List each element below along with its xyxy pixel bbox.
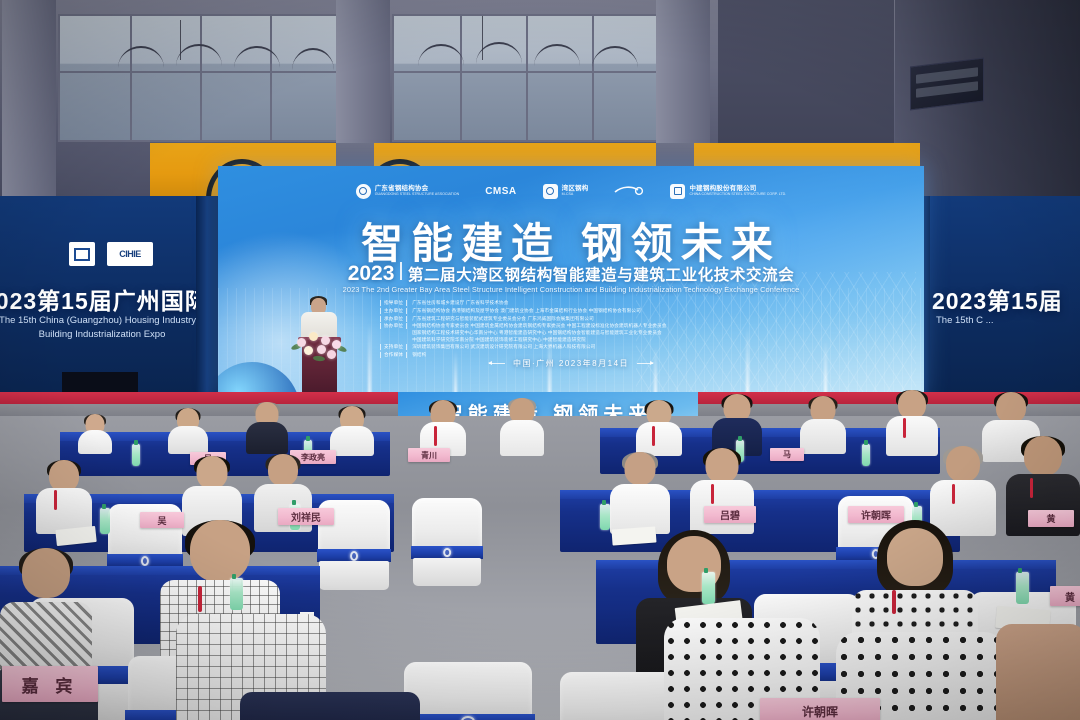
cscec-logo-mark (670, 184, 685, 199)
left-banner-logos: CIHIE (0, 242, 222, 266)
right-expo-banner: 2023第15届 The 15th C ... (922, 196, 1080, 396)
hall-window-bay-left (58, 14, 340, 142)
mcsa-logo: 湾区钢构 M-CSA (543, 184, 589, 199)
hall-column (2, 0, 56, 200)
date-wing-left-icon (489, 363, 505, 364)
attendee (240, 692, 420, 720)
gdsteel-logo: 广东省钢结构协会 GUANGDONG STEEL STRUCTURE ASSOC… (356, 184, 459, 199)
cihie-logo-text: CIHIE (119, 249, 141, 259)
audience-floor: 吴 李政亮 青川 马 (0, 416, 1080, 720)
organizer-credits: 指导单位 广东省住房和城乡建设厅 广东省科学技术协会 主办单位 广东省钢结构协会… (380, 300, 832, 360)
conference-date-location: 中国·广州 2023年8月14日 (513, 358, 629, 369)
placard-ma: 马 (770, 448, 804, 461)
conference-subtitle-cn: 第二届大湾区钢结构智能建造与建筑工业化技术交流会 (408, 263, 794, 285)
placard-guest: 嘉 宾 (2, 666, 98, 702)
expo-mark-logo (69, 242, 95, 266)
attendee (996, 622, 1080, 720)
subtitle-divider (400, 262, 402, 280)
placard-lvbi: 吕碧 (704, 506, 756, 523)
attendee (610, 452, 670, 534)
hall-direction-sign (910, 57, 984, 110)
gdsteel-logo-mark (356, 184, 371, 199)
placard-huang: 黄 (1028, 510, 1074, 527)
podium-flowers (291, 330, 349, 364)
attendee (168, 408, 208, 454)
sponsor-logo-strip: 广东省钢结构协会 GUANGDONG STEEL STRUCTURE ASSOC… (218, 180, 924, 202)
attendee (500, 398, 544, 456)
date-wing-right-icon (637, 363, 653, 364)
cscec-steel-logo: 中建钢构股份有限公司 CHINA CONSTRUCTION STEEL STRU… (670, 184, 786, 199)
attendee (36, 460, 92, 534)
right-banner-english-1: The 15th C ... (922, 314, 1080, 327)
attendee (246, 402, 288, 454)
gdsteel-logo-text: 广东省钢结构协会 GUANGDONG STEEL STRUCTURE ASSOC… (375, 186, 459, 197)
credit-row: 承办单位 广东省建筑工程研究与智能装配式建筑专业委员会分会 广东鸿威国际会展集团… (380, 316, 832, 323)
credit-row: 协办单位 中国钢结构协会专家委员会 中国建筑金属结构协会建筑钢结构专家委员会 中… (380, 323, 832, 343)
stage-pillar-left (196, 196, 218, 400)
credit-row: 主办单位 广东省钢结构协会 香港钢结构及屋宇协会 澳门建筑业协会 上海市金属结构… (380, 308, 832, 315)
conference-subtitle-en: 2023 The 2nd Greater Bay Area Steel Stru… (218, 285, 924, 294)
chair (412, 498, 482, 586)
placard-qingchuan: 青川 (408, 448, 450, 462)
placard-huang-2: 黄 (1050, 586, 1080, 606)
attendee (330, 406, 374, 456)
right-banner-title: 2023第15届 (922, 282, 1080, 316)
credit-row: 支持单位 深圳建筑装饰集团有限公司 武汉建筑设计研究院有限公司 上海大界机器人科… (380, 344, 832, 351)
conference-subtitle-row: 2023 第二届大湾区钢结构智能建造与建筑工业化技术交流会 (218, 262, 924, 286)
cmsa-logo: CMSA (485, 186, 516, 197)
swoosh-logo (614, 184, 644, 198)
placard-liuxiangmin: 刘祥民 (278, 508, 334, 525)
cihie-logo: CIHIE (107, 242, 153, 266)
left-banner-english-2: Building Industrialization Expo (0, 328, 222, 341)
podium-with-speaker (288, 296, 354, 404)
mcsa-logo-mark (543, 184, 558, 199)
cscec-logo-text: 中建钢构股份有限公司 CHINA CONSTRUCTION STEEL STRU… (689, 186, 786, 197)
conference-year: 2023 (348, 262, 395, 286)
attendee (636, 400, 682, 456)
cmsa-logo-text: CMSA (485, 186, 516, 197)
left-expo-banner: CIHIE 2023第15届广州国际住博会 The 15th China (Gu… (0, 196, 222, 396)
left-banner-english-1: The 15th China (Guangzhou) Housing Indus… (0, 314, 222, 327)
attendee (78, 414, 112, 454)
chair (404, 662, 532, 720)
conference-photo: CIHIE 2023第15届广州国际住博会 The 15th China (Gu… (0, 0, 1080, 720)
placard-foreground: 许朝晖 (760, 698, 880, 720)
attendee (800, 396, 846, 454)
left-banner-title: 2023第15届广州国际住博会 (0, 282, 222, 316)
hall-window-bay-center (392, 14, 660, 142)
credit-row: 指导单位 广东省住房和城乡建设厅 广东省科学技术协会 (380, 300, 832, 307)
mcsa-logo-text: 湾区钢构 M-CSA (562, 186, 589, 197)
